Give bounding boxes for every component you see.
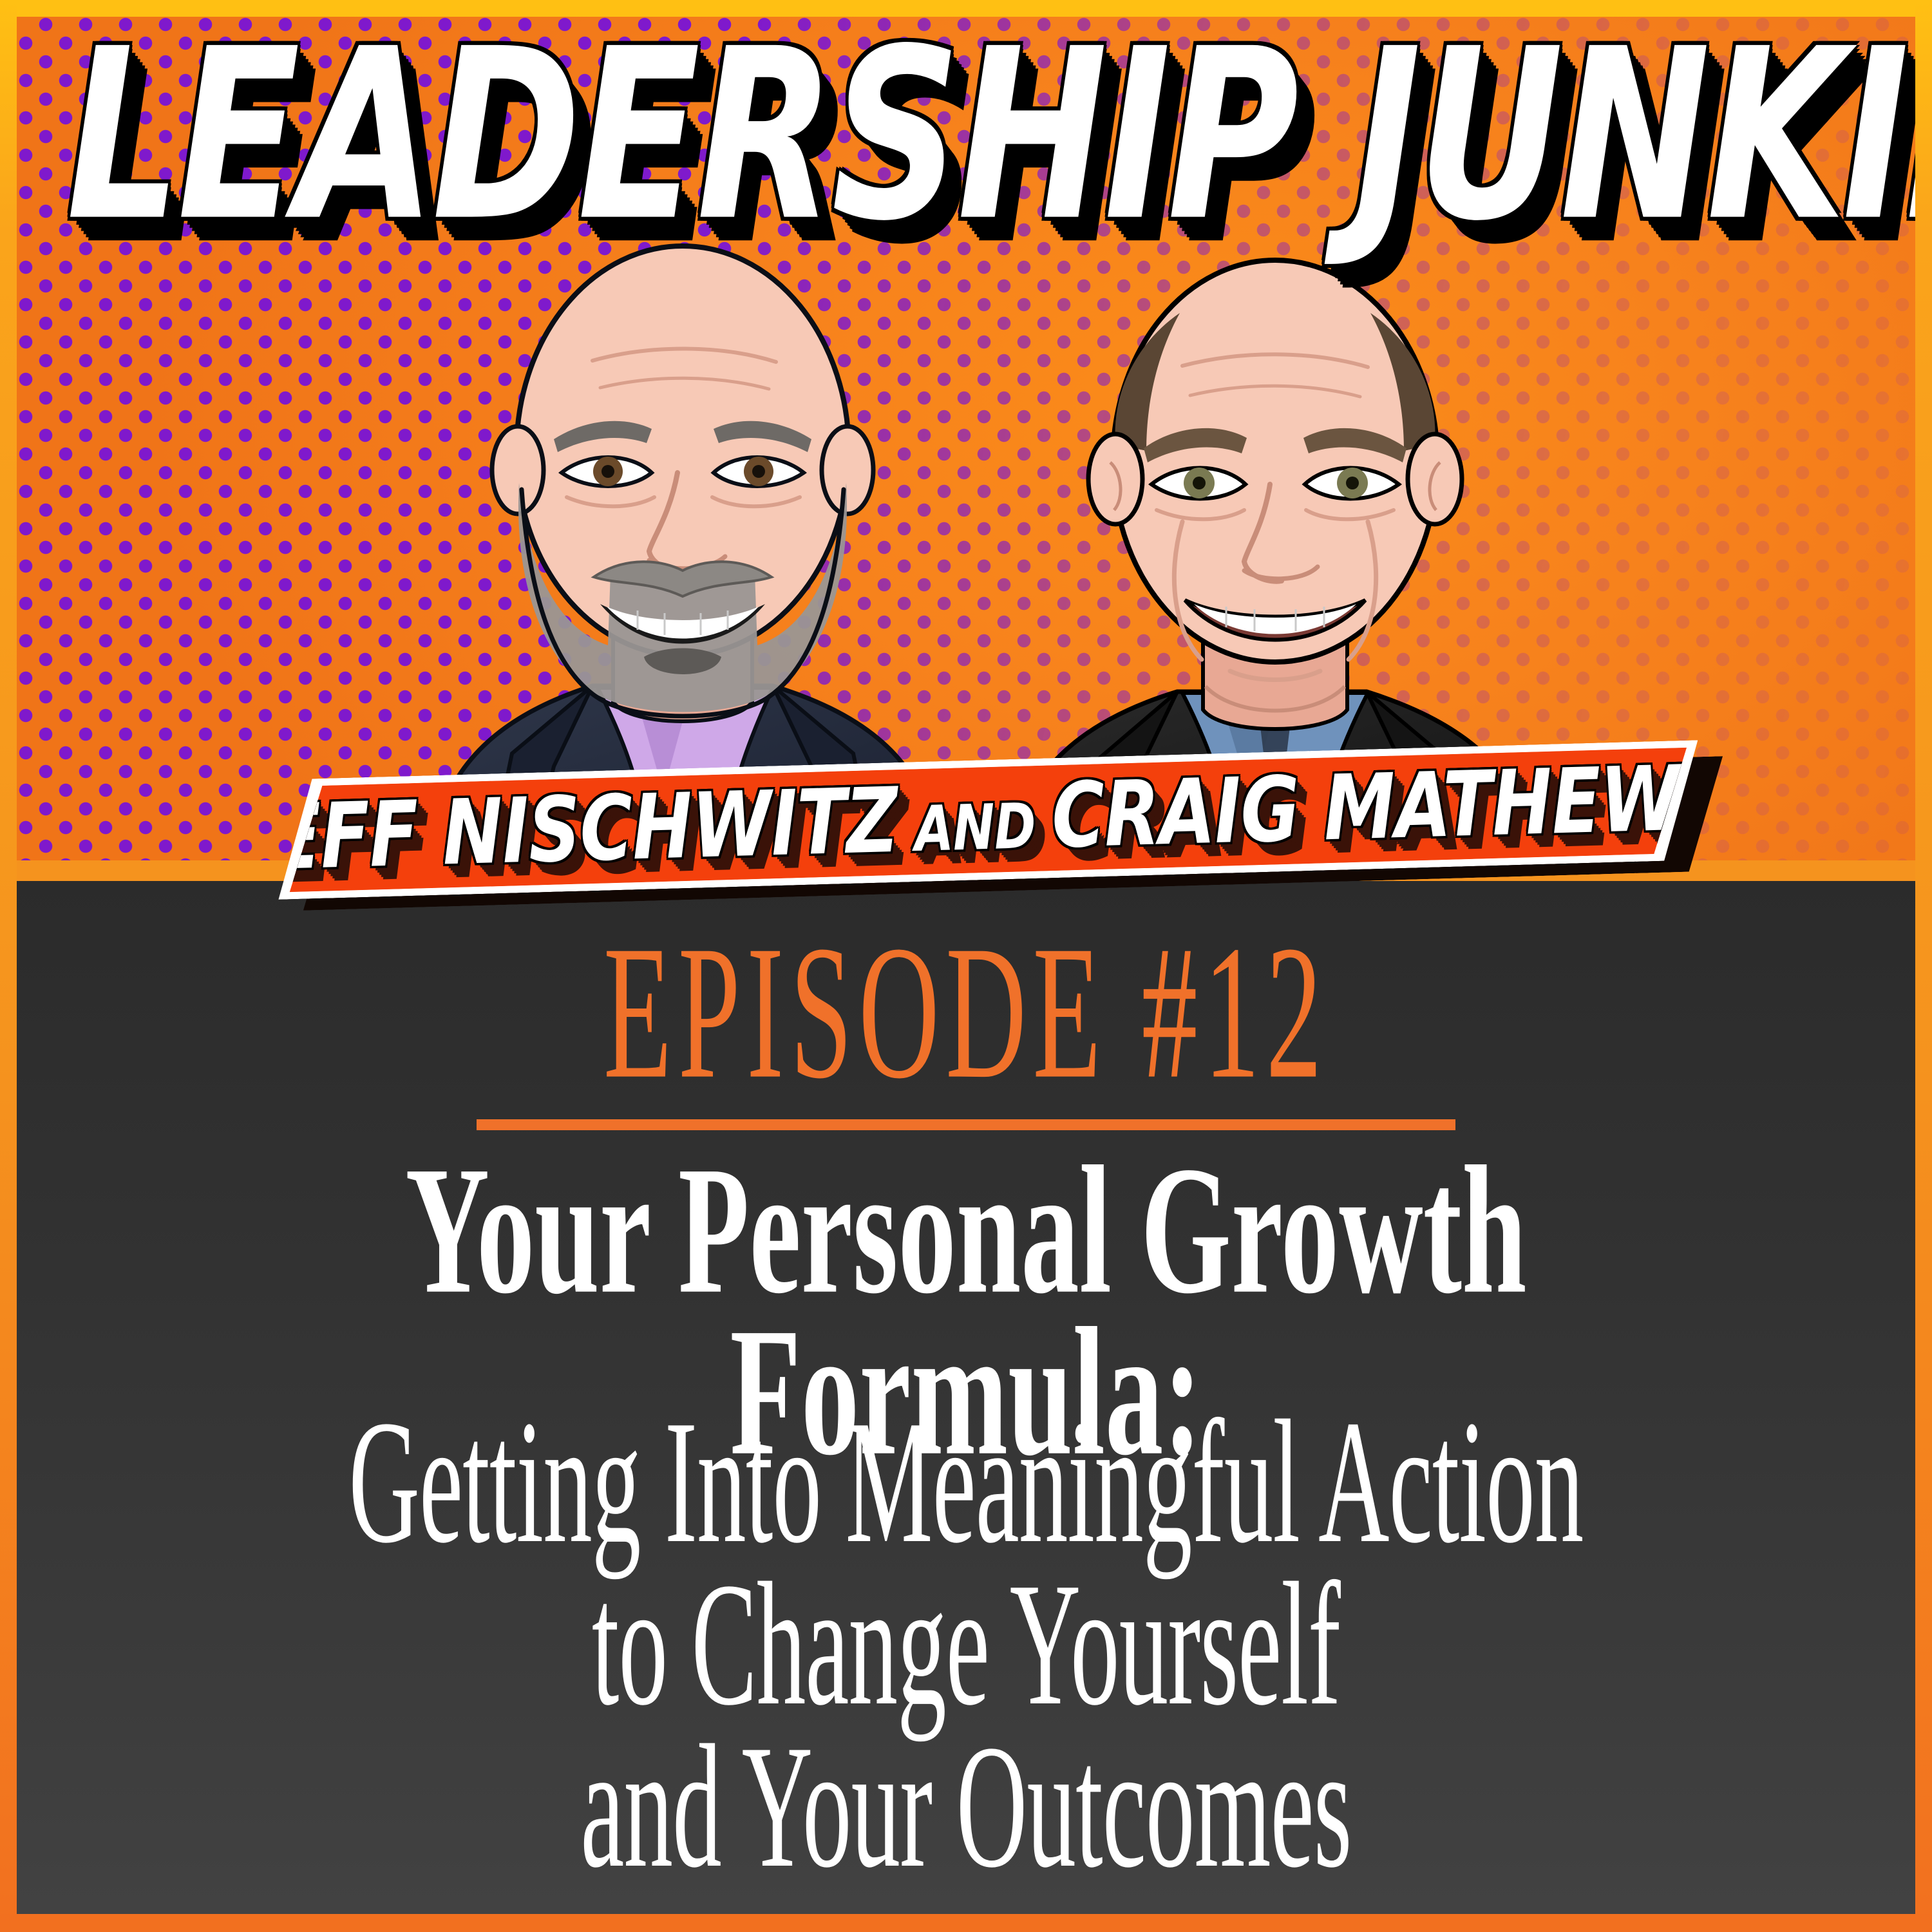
- podcast-title-wordmark: LEADERSHIP JUNKIES: [66, 18, 1832, 254]
- episode-label: EPISODE #12: [603, 916, 1328, 1108]
- subtitle-line-3: and Your Outcomes: [225, 1713, 1706, 1900]
- left-border-strip: [0, 0, 17, 1932]
- hosts-conjunction: AND: [896, 790, 1053, 867]
- host-one-name: JEFF NISCHWITZ: [244, 768, 899, 891]
- host-two-name: CRAIG MATHEWS: [1050, 744, 1732, 868]
- episode-subtitle: Getting Into Meaningful Action to Change…: [17, 1416, 1915, 1902]
- bottom-border-strip: [0, 1914, 1932, 1932]
- head-right: [1113, 260, 1437, 662]
- podcast-cover-art: LEADERSHIP JUNKIES JEFF NISCHWITZ AND CR…: [0, 0, 1932, 1932]
- episode-info-panel: EPISODE #12 Your Personal Growth Formula…: [17, 881, 1915, 1914]
- episode-block: EPISODE #12: [17, 933, 1915, 1130]
- right-border-strip: [1915, 0, 1932, 1932]
- top-border-strip: [0, 0, 1932, 17]
